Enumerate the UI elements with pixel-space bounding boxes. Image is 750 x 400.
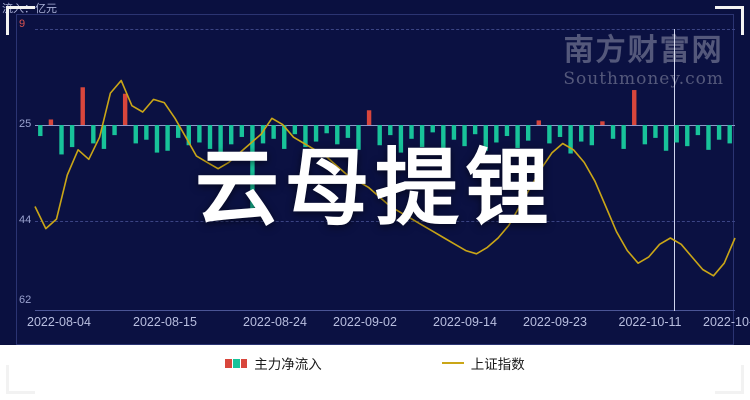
legend-bars-icon [225, 359, 247, 368]
y-tick-1: 25 [19, 119, 31, 130]
bar [728, 125, 732, 143]
bar [81, 87, 85, 125]
bar [515, 125, 519, 148]
bar [208, 125, 212, 149]
x-tick-2: 2022-08-24 [243, 315, 307, 329]
x-tick-7: 2022-10-20 [703, 315, 750, 329]
y-tick-3: 62 [19, 295, 31, 306]
bar [526, 125, 530, 141]
chart-screenshot: 流入：亿元 9 25 44 62 2022-08-04 2022-08-1 [0, 0, 750, 400]
bar [441, 125, 445, 152]
bar [155, 125, 159, 153]
bar [409, 125, 413, 139]
bar [240, 125, 244, 137]
bar [717, 125, 721, 140]
bar [59, 125, 63, 154]
bar [271, 125, 275, 139]
bar [324, 125, 328, 133]
bar [335, 125, 339, 144]
bar [590, 125, 594, 145]
legend-line-icon [442, 362, 464, 364]
bar [473, 125, 477, 134]
bar [91, 125, 95, 143]
x-tick-1: 2022-08-15 [133, 315, 197, 329]
bar [547, 125, 551, 143]
bar [218, 125, 222, 160]
x-tick-0: 2022-08-04 [27, 315, 91, 329]
bar [611, 125, 615, 139]
bar [399, 125, 403, 153]
bar [462, 125, 466, 146]
legend: 主力净流入 上证指数 [0, 350, 750, 376]
bar [49, 119, 53, 125]
bar [314, 125, 318, 142]
bar [378, 125, 382, 145]
bar [643, 125, 647, 144]
bar [229, 125, 233, 144]
bar [558, 125, 562, 137]
legend-item-index[interactable]: 上证指数 [442, 353, 525, 373]
x-tick-6: 2022-10-11 [618, 315, 681, 329]
index-line [35, 81, 735, 276]
chart-surface: 流入：亿元 9 25 44 62 2022-08-04 2022-08-1 [0, 0, 750, 345]
bar [431, 125, 435, 132]
bar [579, 125, 583, 142]
bar [664, 125, 668, 151]
frame-corner-top-right [715, 6, 744, 35]
bar [388, 125, 392, 135]
bar [123, 94, 127, 125]
legend-label-index: 上证指数 [471, 353, 525, 373]
bar [452, 125, 456, 140]
bar [144, 125, 148, 140]
legend-label-inflow: 主力净流入 [254, 353, 322, 373]
bar [250, 125, 254, 215]
bar [484, 125, 488, 151]
bar [293, 125, 297, 134]
frame-corner-top-left [6, 6, 35, 35]
bar [367, 110, 371, 125]
frame-corner-bottom-left [6, 365, 35, 394]
bar [621, 125, 625, 149]
x-tick-3: 2022-09-02 [333, 315, 397, 329]
bar [356, 125, 360, 150]
bar [420, 125, 424, 147]
bar [653, 125, 657, 138]
chart-plot-frame: 9 25 44 62 2022-08-04 2022-08-15 2022-08… [16, 14, 734, 345]
x-tick-5: 2022-09-23 [523, 315, 587, 329]
bars-group [38, 87, 732, 215]
bar [346, 125, 350, 138]
bar [706, 125, 710, 150]
bar [600, 121, 604, 125]
bar [537, 120, 541, 125]
bar [632, 90, 636, 125]
bar [674, 125, 678, 142]
plot-area [35, 29, 735, 311]
legend-item-inflow[interactable]: 主力净流入 [225, 353, 322, 373]
bar [70, 125, 74, 147]
bar [685, 125, 689, 146]
bar [112, 125, 116, 135]
x-axis-labels: 2022-08-04 2022-08-15 2022-08-24 2022-09… [35, 315, 735, 333]
bar [38, 125, 42, 136]
bar [505, 125, 509, 136]
x-tick-4: 2022-09-14 [433, 315, 497, 329]
y-tick-2: 44 [19, 215, 31, 226]
frame-corner-bottom-right [715, 365, 744, 394]
bar [165, 125, 169, 151]
bar [494, 125, 498, 142]
bar [197, 125, 201, 142]
chart-series-layer [35, 29, 735, 311]
bar [134, 125, 138, 143]
bar [696, 125, 700, 135]
